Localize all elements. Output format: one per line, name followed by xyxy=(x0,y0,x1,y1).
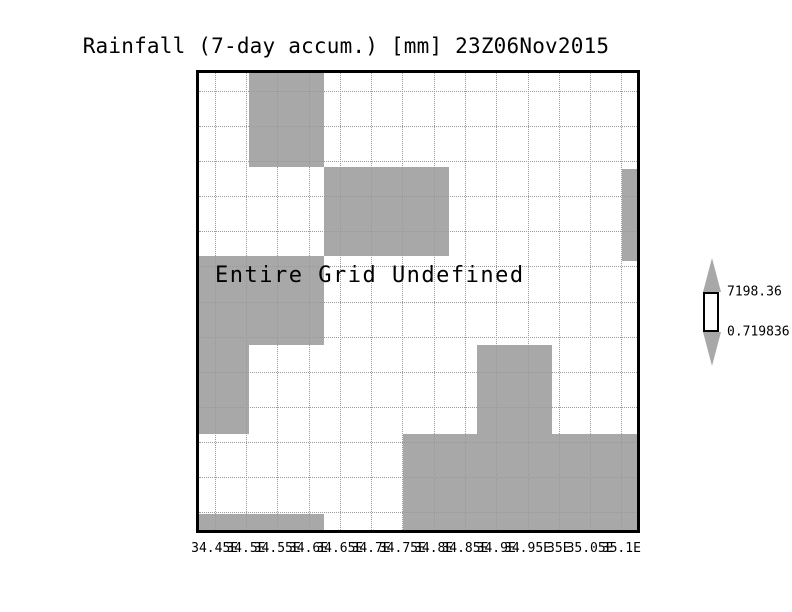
x-axis-tick-label: 35.1E xyxy=(602,541,641,556)
y-axis-tick xyxy=(196,442,199,444)
y-axis-tick xyxy=(196,91,199,93)
x-axis-tick xyxy=(528,530,530,533)
x-axis-tick xyxy=(590,530,592,533)
x-axis-tick xyxy=(246,530,248,533)
colorbar-bottom-triangle-icon xyxy=(703,332,721,366)
gridline-horizontal xyxy=(199,407,637,408)
y-axis-tick xyxy=(196,231,199,233)
x-axis-tick xyxy=(309,530,311,533)
undefined-region-block xyxy=(477,345,551,434)
undefined-region-block xyxy=(403,434,637,530)
y-axis-tick xyxy=(196,372,199,374)
y-axis-tick xyxy=(196,161,199,163)
undefined-region-block xyxy=(199,514,324,530)
x-axis-tick xyxy=(340,530,342,533)
x-axis-tick-label: 34.95E xyxy=(504,541,551,556)
plot-canvas xyxy=(199,73,637,530)
colorbar-max-label: 7198.36 xyxy=(727,285,782,300)
gridline-horizontal xyxy=(199,161,637,162)
x-axis-tick xyxy=(465,530,467,533)
undefined-region-block xyxy=(324,167,449,256)
undefined-region-block xyxy=(249,73,323,167)
y-axis-tick xyxy=(196,126,199,128)
y-axis-tick xyxy=(196,477,199,479)
colorbar-legend[interactable]: 7198.36 0.719836 xyxy=(700,258,726,366)
colorbar-range-box xyxy=(703,292,719,332)
gridline-horizontal xyxy=(199,302,637,303)
gridline-horizontal xyxy=(199,231,637,232)
plot-area[interactable]: Entire Grid Undefined xyxy=(196,70,640,533)
gridline-horizontal xyxy=(199,477,637,478)
colorbar-top-triangle-icon xyxy=(703,258,721,292)
x-axis-tick xyxy=(371,530,373,533)
x-axis-tick xyxy=(277,530,279,533)
entire-grid-undefined-label: Entire Grid Undefined xyxy=(215,263,525,288)
y-axis-tick xyxy=(196,407,199,409)
x-axis-tick xyxy=(621,530,623,533)
y-axis-tick xyxy=(196,337,199,339)
y-axis-tick xyxy=(196,196,199,198)
undefined-region-block xyxy=(199,345,249,434)
x-axis-tick xyxy=(496,530,498,533)
x-axis-tick xyxy=(434,530,436,533)
x-axis-tick xyxy=(215,530,217,533)
x-axis-tick xyxy=(402,530,404,533)
y-axis-tick xyxy=(196,302,199,304)
gridline-horizontal xyxy=(199,442,637,443)
y-axis-tick xyxy=(196,266,199,268)
y-axis-tick xyxy=(196,512,199,514)
gridline-horizontal xyxy=(199,337,637,338)
gridline-horizontal xyxy=(199,196,637,197)
x-axis-tick xyxy=(559,530,561,533)
page-title: Rainfall (7-day accum.) [mm] 23Z06Nov201… xyxy=(0,34,692,58)
gridline-horizontal xyxy=(199,126,637,127)
gridline-horizontal xyxy=(199,512,637,513)
undefined-region-block xyxy=(622,169,637,261)
gridline-horizontal xyxy=(199,372,637,373)
gridline-horizontal xyxy=(199,91,637,92)
colorbar-min-label: 0.719836 xyxy=(727,325,790,340)
